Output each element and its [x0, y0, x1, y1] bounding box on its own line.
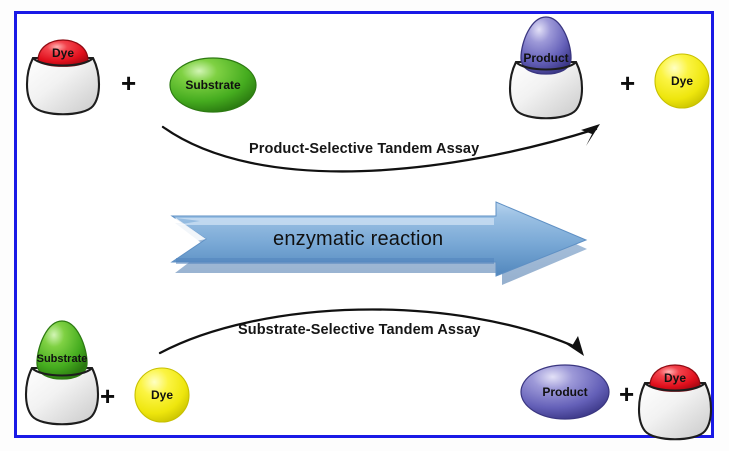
- substrate-selective-arrow: [160, 309, 584, 356]
- arrow-head: [560, 336, 584, 356]
- dye-circle-bottom-left: [135, 368, 189, 422]
- dye-blob-yellow: [135, 368, 189, 422]
- product-blob: [521, 365, 609, 419]
- product-egg-purple: [521, 17, 571, 74]
- product-ellipse-bottom: [521, 365, 609, 419]
- bottom-right-host-dye-complex: [639, 365, 711, 439]
- arrow-curve: [160, 309, 578, 353]
- dye-dome-red: [38, 40, 88, 66]
- substrate-egg-green: [37, 321, 87, 379]
- arrow-bevel-bottom: [176, 258, 494, 264]
- arrow-head: [581, 124, 600, 146]
- bottom-left-host-substrate-complex: [26, 321, 98, 424]
- arrow-bevel-top: [176, 218, 494, 225]
- top-right-host-product-complex: [510, 17, 582, 118]
- dye-circle-top-right: [655, 54, 709, 108]
- dye-dome-red: [650, 365, 700, 391]
- substrate-blob: [170, 58, 256, 112]
- substrate-ellipse-top: [170, 58, 256, 112]
- figure-root: Dye Substrate Product Dye + + Product-Se…: [0, 0, 729, 451]
- product-selective-arrow: [163, 124, 600, 171]
- enzymatic-reaction-arrow: [172, 202, 587, 285]
- arrow-curve: [163, 127, 596, 171]
- dye-blob-yellow: [655, 54, 709, 108]
- diagram-canvas: [0, 0, 729, 451]
- top-left-host-dye-complex: [27, 40, 99, 114]
